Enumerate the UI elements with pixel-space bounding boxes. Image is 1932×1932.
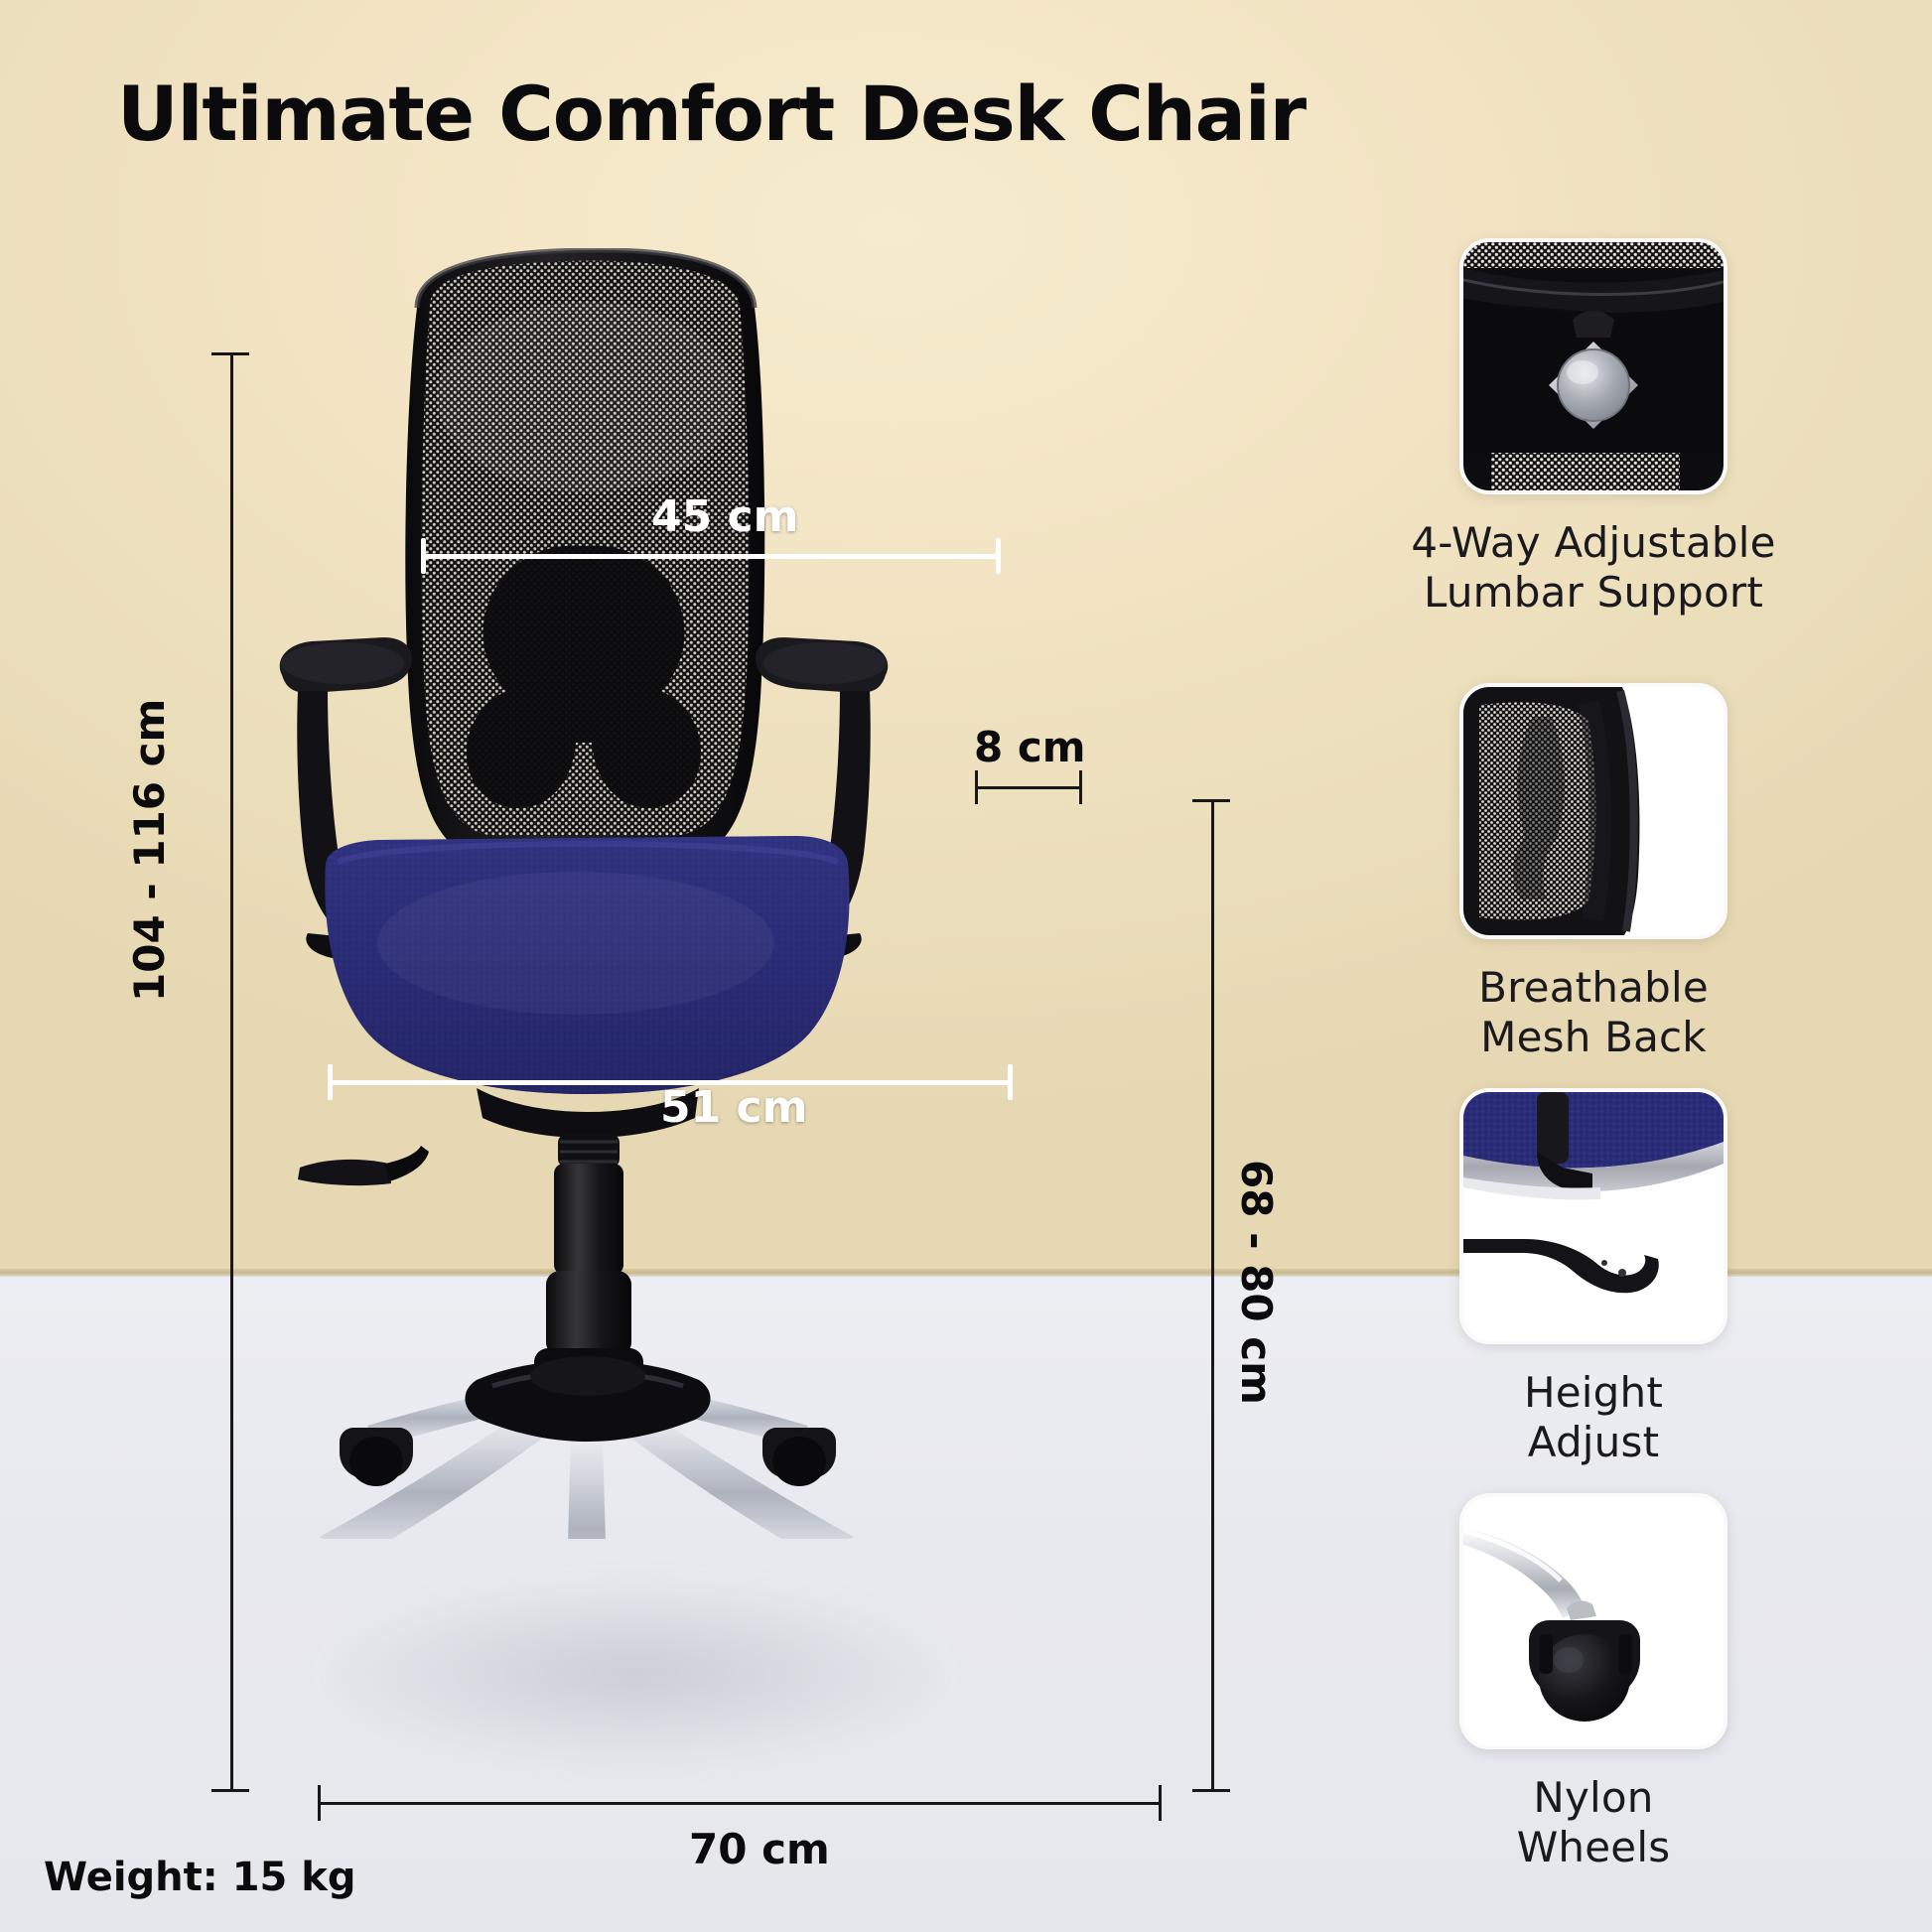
tilt-lever — [298, 1160, 391, 1185]
feature-card-nylon-wheels[interactable]: Nylon Wheels — [1360, 1493, 1827, 1871]
feature-caption-mesh-line2: Mesh Back — [1360, 1013, 1827, 1062]
feature-caption-height-line2: Adjust — [1360, 1418, 1827, 1467]
feature-card-lumbar-support[interactable]: 4-Way Adjustable Lumbar Support — [1360, 238, 1827, 617]
feature-caption-wheels-line2: Wheels — [1360, 1823, 1827, 1872]
chair-floor-shadow — [228, 1549, 1042, 1797]
dimline-seat-height — [1211, 799, 1214, 1792]
feature-caption-lumbar-line2: Lumbar Support — [1360, 568, 1827, 618]
dimcap-height-top — [211, 352, 249, 355]
dimension-seat-width: 51 cm — [660, 1082, 807, 1133]
dimcap-armrest-right — [1079, 770, 1082, 804]
dimcap-seatheight-top — [1192, 799, 1230, 802]
feature-caption-lumbar-line1: 4-Way Adjustable — [1360, 518, 1827, 568]
dimline-base-width — [318, 1802, 1162, 1805]
dimension-base-width: 70 cm — [689, 1825, 830, 1873]
feature-image-wheels — [1459, 1493, 1727, 1749]
feature-caption-lumbar: 4-Way Adjustable Lumbar Support — [1360, 518, 1827, 617]
feature-image-mesh — [1459, 683, 1727, 939]
dimcap-seat-right — [1008, 1064, 1013, 1100]
dimcap-height-bottom — [211, 1789, 249, 1792]
feature-image-lumbar — [1459, 238, 1727, 494]
dimcap-base-left — [318, 1785, 321, 1821]
feature-card-mesh-back[interactable]: Breathable Mesh Back — [1360, 683, 1827, 1061]
feature-caption-height: Height Adjust — [1360, 1368, 1827, 1466]
seat-cushion — [325, 836, 849, 1094]
weight-label: Weight: 15 kg — [44, 1855, 356, 1900]
feature-caption-wheels: Nylon Wheels — [1360, 1773, 1827, 1871]
dimline-armrest-width — [975, 786, 1082, 789]
dimcap-seat-left — [328, 1064, 333, 1100]
dimline-backrest-width — [421, 554, 1001, 559]
dimension-seat-height: 68 - 80 cm — [1232, 1160, 1281, 1405]
dimcap-base-right — [1159, 1785, 1162, 1821]
dimline-total-height — [230, 352, 233, 1792]
dimcap-backrest-right — [996, 538, 1001, 574]
dimcap-seatheight-bottom — [1192, 1789, 1230, 1792]
feature-caption-mesh-line1: Breathable — [1360, 963, 1827, 1013]
dimension-backrest-width: 45 cm — [651, 491, 798, 542]
feature-caption-height-line1: Height — [1360, 1368, 1827, 1418]
feature-caption-mesh: Breathable Mesh Back — [1360, 963, 1827, 1061]
dimcap-armrest-left — [975, 770, 978, 804]
feature-card-height-adjust[interactable]: Height Adjust — [1360, 1088, 1827, 1466]
dimcap-backrest-left — [421, 538, 426, 574]
dimension-armrest-width: 8 cm — [974, 723, 1086, 771]
page-title: Ultimate Comfort Desk Chair — [117, 69, 1306, 158]
infographic-canvas: Ultimate Comfort Desk Chair — [0, 0, 1932, 1932]
chair-product-image — [179, 248, 1072, 1539]
dimension-total-height: 104 - 116 cm — [125, 699, 174, 1002]
feature-caption-wheels-line1: Nylon — [1360, 1773, 1827, 1823]
gas-cylinder — [534, 1134, 643, 1382]
feature-image-height — [1459, 1088, 1727, 1344]
